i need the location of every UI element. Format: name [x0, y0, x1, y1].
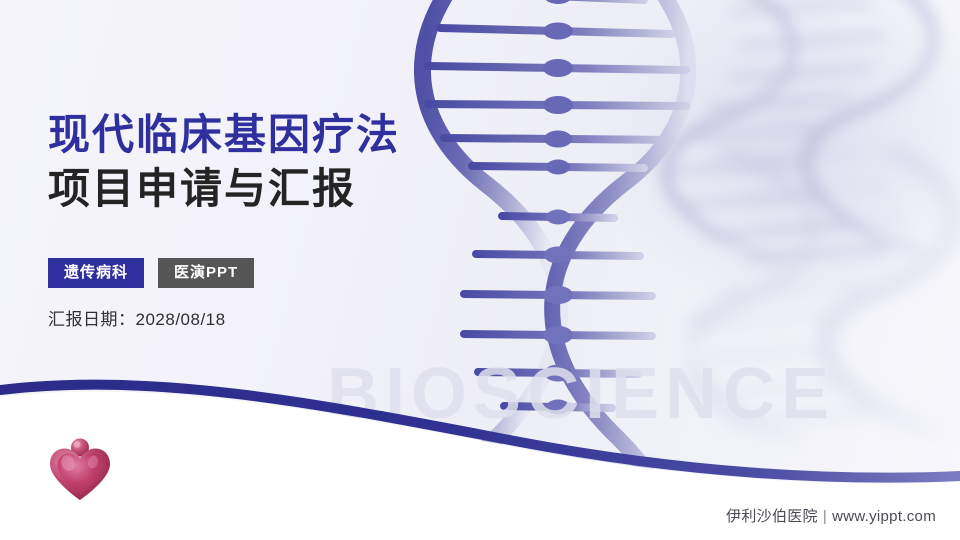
presentation-slide: BIOSCIENCE 现代临床基因疗法 项目申请与汇报 遗传病科 医演PPT 汇…	[0, 0, 960, 540]
page-title-line-2: 项目申请与汇报	[48, 162, 400, 216]
tag-group: 遗传病科 医演PPT	[48, 258, 254, 288]
footer-website: www.yippt.com	[832, 508, 936, 525]
footer-organization: 伊利沙伯医院	[726, 508, 818, 525]
page-title-line-1: 现代临床基因疗法	[48, 108, 400, 162]
footer-separator: |	[823, 508, 827, 525]
footer-credit: 伊利沙伯医院|www.yippt.com	[726, 505, 936, 526]
heart-person-logo-icon	[46, 436, 114, 502]
tag-template[interactable]: 医演PPT	[158, 258, 254, 288]
report-date: 汇报日期：2028/08/18	[48, 305, 226, 330]
title-block: 现代临床基因疗法 项目申请与汇报	[48, 108, 400, 216]
tag-department[interactable]: 遗传病科	[48, 258, 144, 288]
